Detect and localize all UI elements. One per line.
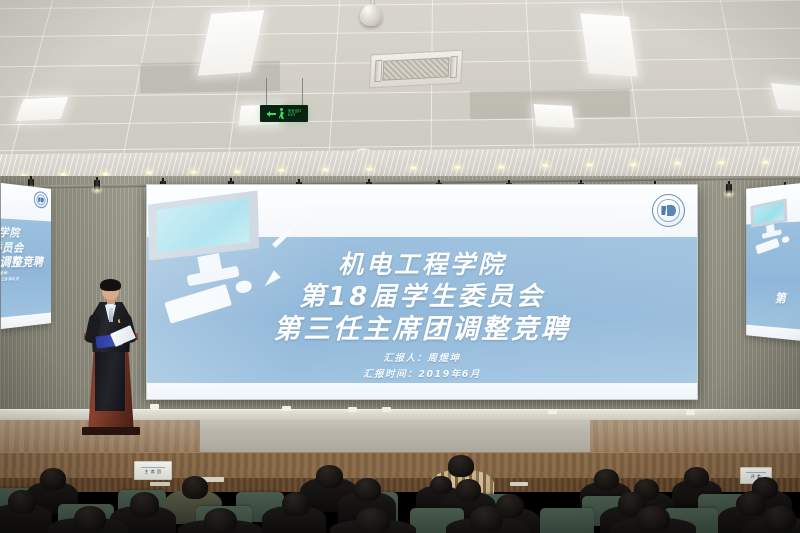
audience-head: [738, 492, 766, 516]
track-spotlight[interactable]: [726, 181, 732, 194]
side-right-slide: 第: [746, 183, 800, 341]
slide-date-label: 汇报时间：2019年6月: [363, 367, 481, 382]
audience-area: 主 席 团 评 委: [0, 452, 800, 533]
screen-base-marker: [150, 404, 159, 409]
university-emblem: [34, 191, 48, 209]
running-person-icon: [278, 108, 286, 119]
audience-head: [130, 492, 159, 517]
university-emblem: [652, 194, 685, 227]
side-screen-right[interactable]: 第: [746, 183, 800, 341]
side-left-slide: 程学院 委员会 团调整竞聘 煜坤 2019年6月: [1, 183, 51, 329]
audience-head: [40, 468, 66, 490]
exit-sign-secondary-text: EXIT: [288, 114, 301, 118]
auditorium-seat: [540, 508, 594, 533]
slide-headline-group: 机电工程学院 第18届学生委员会 第三任主席团调整竞聘 汇报人：周煜坤 汇报时间…: [147, 249, 697, 382]
track-spotlight[interactable]: [94, 177, 100, 190]
screen-base-marker: [382, 407, 391, 412]
main-projection-screen[interactable]: 机电工程学院 第18届学生委员会 第三任主席团调整竞聘 汇报人：周煜坤 汇报时间…: [146, 184, 698, 400]
ceiling-ac-cassette: [369, 50, 463, 89]
slide-headline-line-3: 第三任主席团调整竞聘: [274, 314, 571, 347]
desk-rail-front-row: [0, 452, 800, 478]
presenter-hair: [100, 279, 121, 291]
presenter-legs: [95, 349, 125, 411]
presenter-tie: [109, 308, 113, 322]
exit-sign: 安全出口 EXIT: [260, 105, 308, 122]
audience-head: [354, 478, 381, 501]
audience-head: [356, 508, 390, 533]
audience-head: [8, 490, 36, 514]
auditorium-scene: 安全出口 EXIT: [0, 0, 800, 533]
ceiling-panel-light: [16, 97, 69, 121]
name-placard-text: 主 席 团: [144, 469, 161, 475]
audience-head: [636, 506, 670, 532]
audience-head: [456, 479, 481, 501]
arrow-left-icon: [264, 110, 276, 118]
ceiling-panel-light: [580, 13, 637, 76]
side-screen-left[interactable]: 程学院 委员会 团调整竞聘 煜坤 2019年6月: [1, 183, 51, 329]
audience-head: [684, 467, 709, 488]
audience-head: [764, 506, 796, 532]
ac-grille: [382, 57, 449, 80]
audience-head: [204, 508, 237, 533]
presenter: [78, 281, 142, 431]
audience-head: [594, 469, 619, 490]
slide-headline-line-2: 第18届学生委员会: [299, 281, 545, 314]
slide-headline-line-1: 机电工程学院: [338, 249, 506, 281]
audience-head: [74, 506, 106, 532]
slide-footer-band: [147, 383, 697, 399]
audience-head: [470, 506, 503, 532]
screen-base-marker: [686, 410, 695, 415]
main-slide: 机电工程学院 第18届学生委员会 第三任主席团调整竞聘 汇报人：周煜坤 汇报时间…: [147, 185, 697, 399]
audience-head: [282, 492, 310, 516]
ceiling-panel-light: [771, 83, 800, 113]
name-placard: 主 席 团: [134, 461, 172, 480]
audience-head: [448, 455, 474, 477]
audience-head: [430, 476, 452, 494]
screen-base-marker: [282, 406, 291, 411]
screen-base-marker: [348, 407, 357, 412]
audience-head: [182, 476, 208, 499]
ceiling-panel-light: [533, 104, 574, 128]
ceiling-dome-speaker: [360, 4, 382, 26]
screen-base-marker: [548, 409, 557, 414]
slide-presenter-label: 汇报人：周煜坤: [383, 351, 460, 366]
audience-head: [316, 465, 343, 488]
